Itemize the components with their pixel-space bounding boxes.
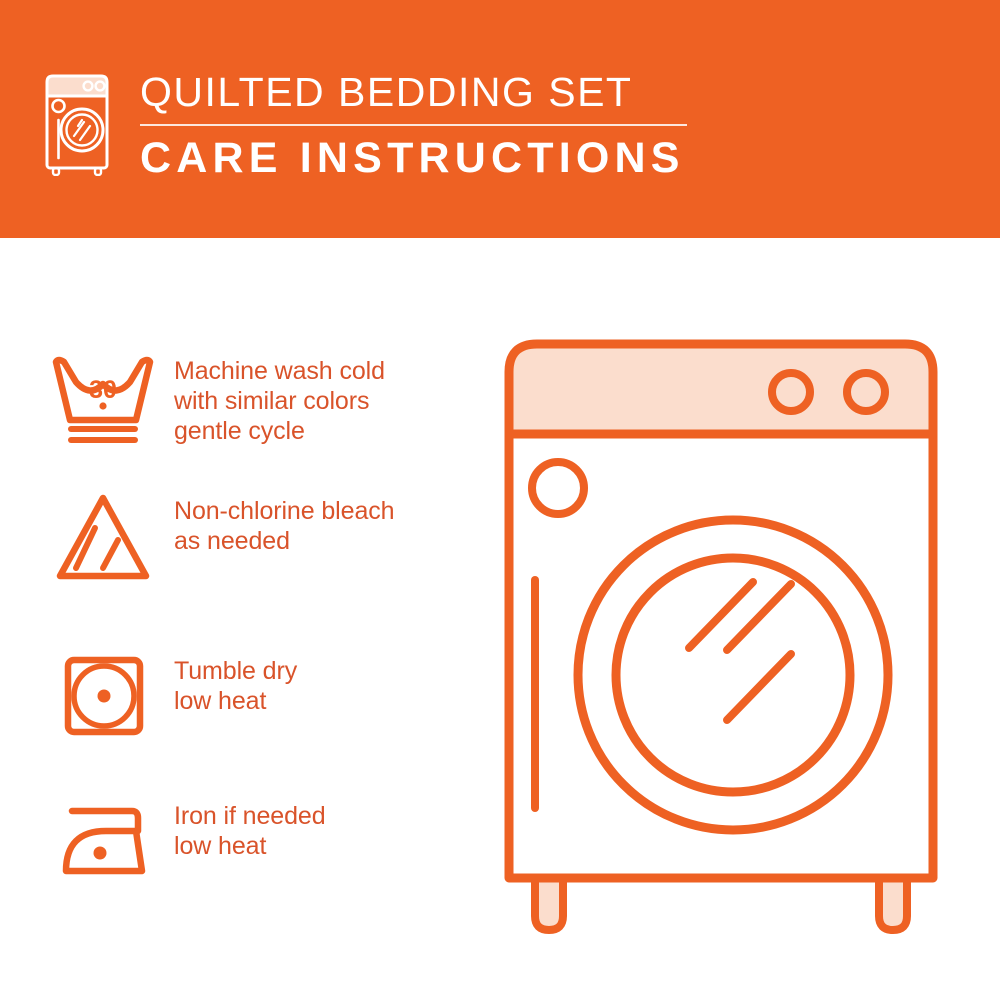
instruction-line: Non-chlorine bleach: [174, 496, 394, 526]
control-panel: [509, 344, 933, 434]
wash-tub-30-gentle-icon: 30: [38, 338, 168, 458]
header-title-group: QUILTED BEDDING SET CARE INSTRUCTIONS: [140, 68, 700, 184]
large-washing-machine-illustration: [495, 330, 965, 950]
page-title: QUILTED BEDDING SET: [140, 68, 700, 116]
instruction-line: Machine wash cold: [174, 356, 385, 386]
instruction-line: with similar colors: [174, 386, 385, 416]
leg: [535, 878, 563, 930]
washing-machine-icon: [44, 72, 110, 176]
care-instructions-list: 30 Machine wash cold with similar colors…: [0, 238, 470, 1000]
instruction-line: Tumble dry: [174, 656, 297, 686]
machine-body: [509, 430, 933, 878]
iron-low-heat-icon: [38, 783, 168, 903]
header-banner: QUILTED BEDDING SET CARE INSTRUCTIONS: [0, 0, 1000, 238]
instruction-line: Iron if needed: [174, 801, 326, 831]
instruction-row-tumble-dry: Tumble dry low heat: [0, 638, 470, 758]
wash-temperature-label: 30: [89, 376, 117, 404]
leg: [879, 878, 907, 930]
title-divider: [140, 124, 687, 126]
instruction-line: low heat: [174, 831, 326, 861]
non-chlorine-bleach-triangle-icon: [38, 478, 168, 598]
instruction-row-iron: Iron if needed low heat: [0, 783, 470, 903]
instruction-row-bleach: Non-chlorine bleach as needed: [0, 478, 470, 598]
instruction-text-bleach: Non-chlorine bleach as needed: [174, 478, 394, 556]
instruction-text-iron: Iron if needed low heat: [174, 783, 326, 861]
instruction-text-machine-wash: Machine wash cold with similar colors ge…: [174, 338, 385, 446]
tumble-dry-low-heat-icon: [38, 638, 168, 758]
instruction-line: low heat: [174, 686, 297, 716]
instruction-text-tumble-dry: Tumble dry low heat: [174, 638, 297, 716]
instruction-line: gentle cycle: [174, 416, 385, 446]
page-subtitle: CARE INSTRUCTIONS: [140, 132, 700, 184]
instruction-row-machine-wash: 30 Machine wash cold with similar colors…: [0, 338, 470, 458]
instruction-line: as needed: [174, 526, 394, 556]
